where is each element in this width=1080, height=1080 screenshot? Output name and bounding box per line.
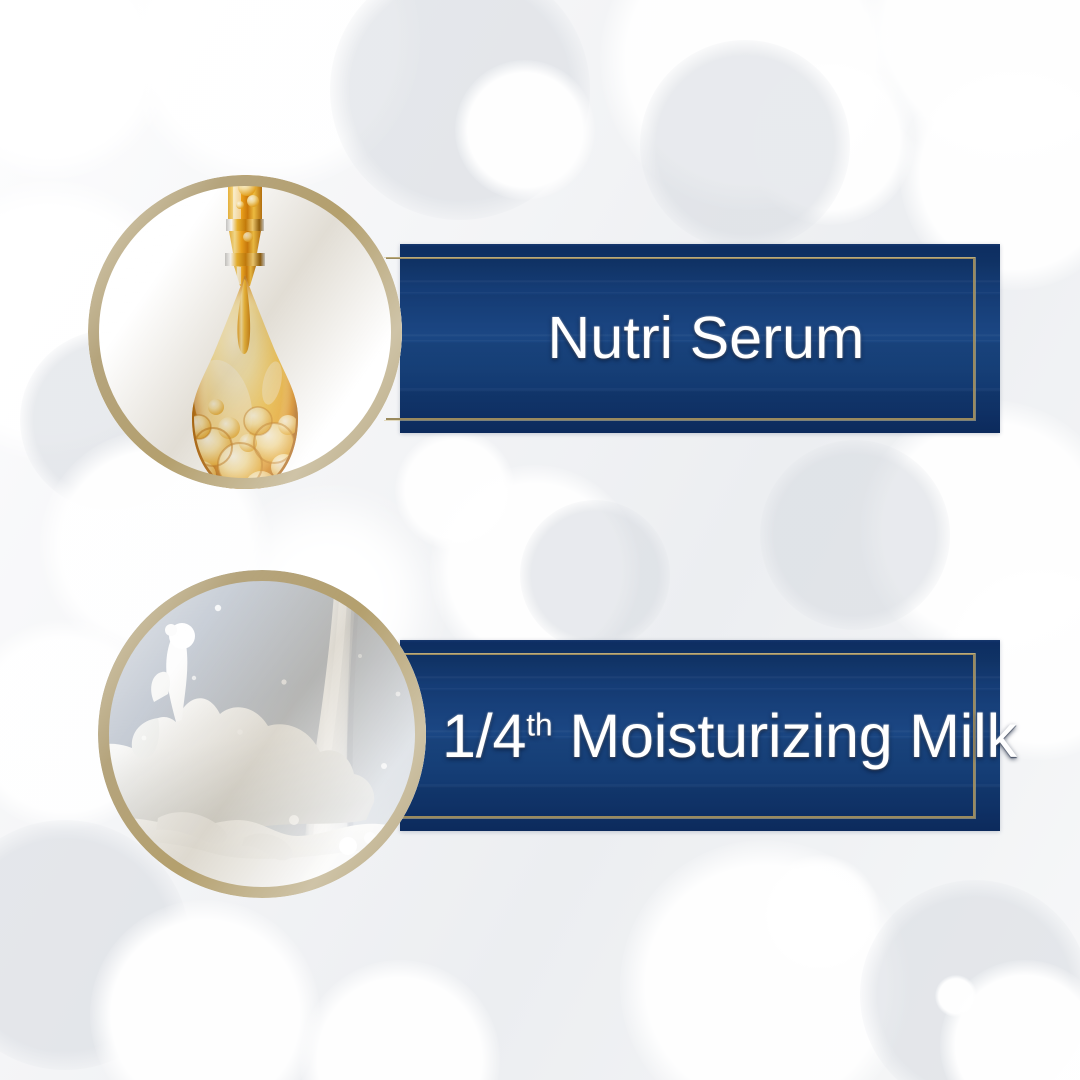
benefit-label-moisturizing-milk: 1/4th Moisturizing Milk (442, 703, 970, 767)
milk-splash-icon (98, 570, 426, 898)
serum-droplet (185, 275, 298, 489)
serum-dropper-icon (88, 175, 402, 489)
benefit-label-superscript: th (526, 706, 552, 742)
serum-droplet-image (88, 175, 402, 489)
milk-splash-image (98, 570, 426, 898)
milk-scene (98, 570, 426, 898)
dropper-glass (225, 175, 265, 286)
benefit-plaque-moisturizing-milk[interactable]: 1/4th Moisturizing Milk (400, 640, 1000, 831)
benefit-label-fraction: 1/4 (442, 701, 526, 769)
benefit-plaque-nutri-serum[interactable]: Nutri Serum (400, 244, 1000, 433)
promo-graphic: Nutri Serum (0, 0, 1080, 1080)
serum-scene (88, 175, 402, 489)
feature-image-moisturizing-milk[interactable] (98, 570, 426, 898)
benefit-label-rest: Moisturizing Milk (553, 701, 1017, 769)
feature-image-nutri-serum[interactable] (88, 175, 402, 489)
benefit-label-nutri-serum: Nutri Serum (442, 308, 970, 370)
